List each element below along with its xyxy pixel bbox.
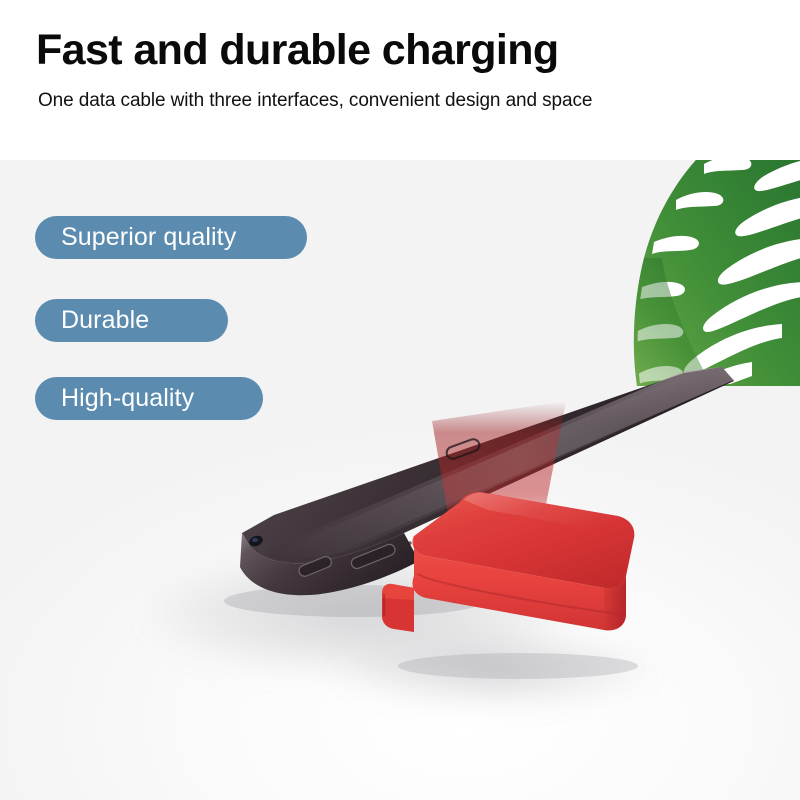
feature-badge-durable[interactable]: Durable — [35, 299, 228, 342]
product-banner: Fast and durable charging One data cable… — [0, 0, 800, 800]
feature-badge-label: Superior quality — [61, 223, 236, 252]
feature-badge-high-quality[interactable]: High-quality — [35, 377, 263, 420]
phone-camera-glint — [252, 538, 258, 542]
feature-badge-label: Durable — [61, 306, 149, 335]
page-subtitle: One data cable with three interfaces, co… — [38, 88, 598, 113]
page-title: Fast and durable charging — [36, 28, 756, 73]
red-cable-case — [368, 490, 650, 680]
monstera-leaf-icon — [592, 160, 800, 392]
case-cable-tab-highlight — [382, 584, 414, 600]
feature-badge-superior-quality[interactable]: Superior quality — [35, 216, 307, 259]
feature-badge-label: High-quality — [61, 384, 194, 413]
